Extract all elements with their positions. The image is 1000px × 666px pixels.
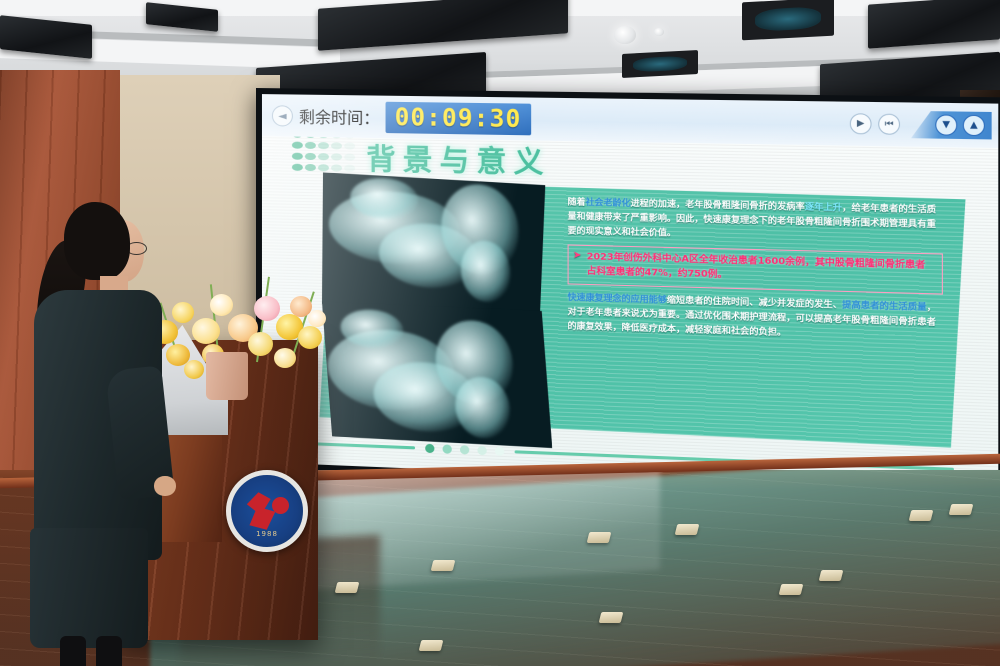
pagination-dot-1[interactable] [425,443,434,452]
p2-seg-1: 缩短患者的住院时间、减少并发症的发生、 [667,296,842,311]
presenter-hair [64,202,130,280]
floor-marker [949,504,974,515]
p2-seg-2: 提高患者的生活质量 [842,301,927,314]
floor-marker [431,560,456,571]
hospital-emblem: 1988 [226,470,308,552]
play-icon[interactable]: ▶ [850,113,872,134]
slide-title: 背景与意义 [366,136,551,182]
pagination-dot-4[interactable] [477,445,486,455]
presenter-skirt [30,528,148,648]
presenter [26,198,154,666]
pagination-dot-2[interactable] [443,444,452,454]
floor-marker [599,612,624,623]
slide-text-column: 随着社会老龄化进程的加速，老年股骨粗隆间骨折的发病率逐年上升，给老年患者的生活质… [568,196,943,349]
slide-canvas: ◄ 剩余时间： 00:09:30 ▶ ⏮ ▼ ▲ 背景与意义 [262,94,998,493]
lecture-hall-scene: ◄ 剩余时间： 00:09:30 ▶ ⏮ ▼ ▲ 背景与意义 [0,0,1000,666]
slide-nav-group: ▼ ▲ [911,111,992,140]
timer-value: 00:09:30 [386,101,531,135]
emblem-year: 1988 [231,530,303,538]
presenter-leg-left [60,636,86,666]
chevron-up-icon[interactable]: ▲ [963,115,985,136]
presenter-leg-right [96,636,122,666]
slide-pagination[interactable] [425,443,504,455]
p1-seg-3: 逐年上升 [805,202,842,213]
floor-marker [819,570,844,581]
p1-seg-1: 社会老龄化 [586,198,631,209]
hip-xray-ap-view [319,172,549,322]
ceiling-speaker-2 [742,0,834,40]
hip-xray-lateral-view [322,299,552,451]
ceiling-spotlight-2 [654,28,664,36]
ceiling-spotlight-1 [614,26,636,44]
p2-seg-0: 快速康复理念的应用能够 [568,293,667,306]
led-presentation-screen: ◄ 剩余时间： 00:09:30 ▶ ⏮ ▼ ▲ 背景与意义 [256,88,1000,499]
projector-6 [868,0,1000,49]
presenter-hand [154,476,176,496]
floor-marker [779,584,804,595]
floor-marker [909,510,934,521]
chevron-down-icon[interactable]: ▼ [935,114,957,135]
timer-label: 剩余时间： [299,104,380,129]
p1-seg-0: 随着 [568,197,586,208]
flower-vase [206,352,248,400]
floor-marker [587,532,612,543]
back-arrow-icon[interactable]: ◄ [272,105,293,126]
p1-seg-2: 进程的加速，老年股骨粗隆间骨折的发病率 [631,199,805,213]
paragraph-2: 快速康复理念的应用能够缩短患者的住院时间、减少并发症的发生、提高患者的生活质量，… [568,292,943,346]
emblem-circle-icon [272,497,289,514]
floor-marker [335,582,360,593]
restart-icon[interactable]: ⏮ [878,114,900,135]
paragraph-1: 随着社会老龄化进程的加速，老年股骨粗隆间骨折的发病率逐年上升，给老年患者的生活质… [568,196,943,248]
pagination-dot-5[interactable] [495,446,504,456]
highlight-statistic-box: ➤ 2023年创伤外科中心A区全年收治患者1600余例，其中股骨粗隆间骨折患者占… [568,244,943,295]
pagination-dot-3[interactable] [460,445,469,455]
projector-4 [318,0,568,51]
floor-marker [675,524,700,535]
ceiling-speaker-1 [622,50,698,78]
floor-marker [419,640,444,651]
xray-image-group [319,172,553,451]
bullet-arrow-icon: ➤ [573,251,582,261]
highlight-statistic-text: 2023年创伤外科中心A区全年收治患者1600余例，其中股骨粗隆间骨折患者占科室… [587,250,935,289]
